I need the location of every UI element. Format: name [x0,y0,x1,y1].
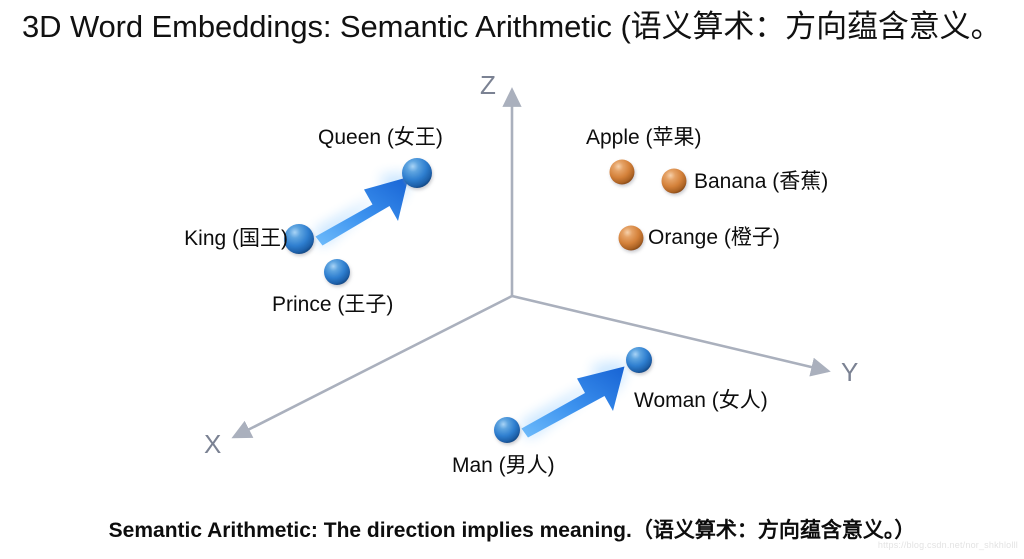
figure-caption: Semantic Arithmetic: The direction impli… [0,516,1024,546]
point-label-prince: Prince (王子) [272,292,393,317]
point-label-queen: Queen (女王) [318,125,443,150]
point-label-king: King (国王) [20,226,288,251]
axis-label-y: Y [841,359,858,385]
point-apple[interactable] [610,160,635,185]
point-orange[interactable] [619,226,644,251]
arrow-king-to-queen-shape [316,177,409,246]
point-woman[interactable] [626,347,652,373]
point-king[interactable] [284,224,314,254]
axis-line-x [234,296,512,437]
arrow-man-to-woman [522,364,627,438]
point-prince[interactable] [324,259,350,285]
point-man[interactable] [494,417,520,443]
arrow-man-to-woman-shape [522,367,625,438]
embedding-figure: 3D Word Embeddings: Semantic Arithmetic … [0,0,1024,559]
point-label-orange: Orange (橙子) [648,225,780,250]
point-label-woman: Woman (女人) [634,388,768,413]
axis-line-y [512,296,828,371]
arrow-king-to-queen [316,176,411,246]
point-banana[interactable] [662,169,687,194]
point-label-man: Man (男人) [452,453,555,478]
point-label-banana: Banana (香蕉) [694,169,828,194]
axis-label-z: Z [480,72,496,98]
point-queen[interactable] [402,158,432,188]
watermark: https://blog.csdn.net/nor_shkhlolll [878,540,1018,550]
point-label-apple: Apple (苹果) [586,125,702,150]
axis-label-x: X [204,431,221,457]
